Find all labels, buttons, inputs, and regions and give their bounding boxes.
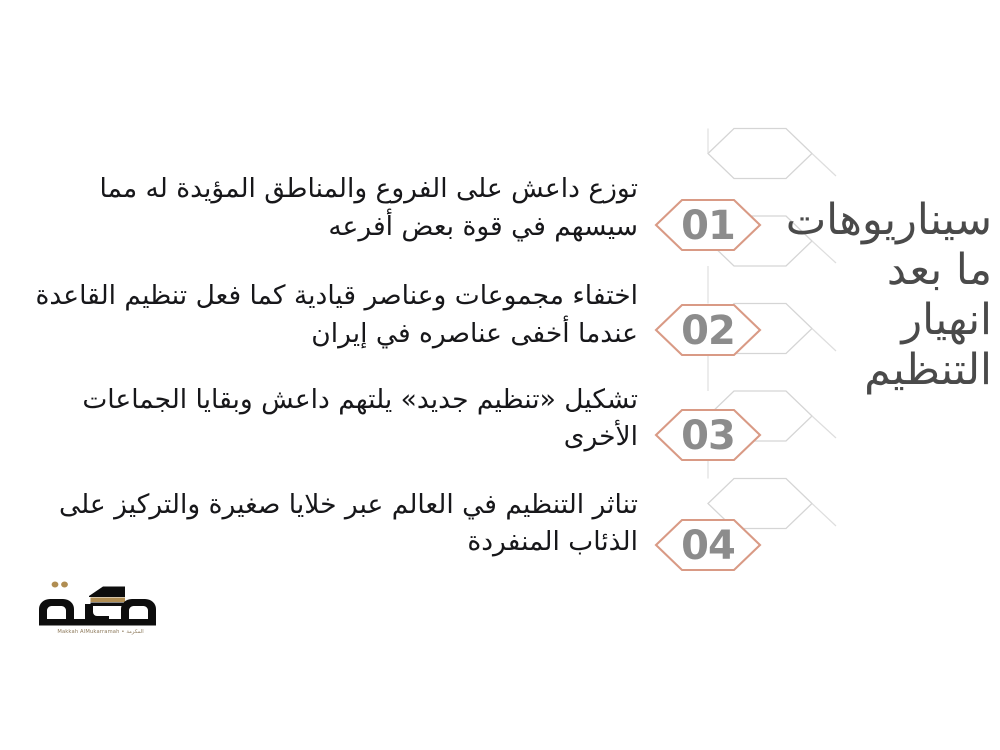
scenario-text-02: اختفاء مجموعات وعناصر قيادية كما فعل تنظ…	[14, 277, 638, 352]
connector-stub-0	[812, 154, 836, 177]
makkah-wordmark	[33, 578, 168, 628]
makkah-logo: Makkah AlMukarramah • المكرمة	[33, 578, 168, 640]
hexagon-number-03: 03	[681, 413, 735, 459]
infographic-canvas: 01 02 03 04 سيناريوهات ما بعد انهيار الت…	[0, 0, 1000, 750]
scenario-list: توزع داعش على الفروع والمناطق المؤيدة له…	[14, 170, 638, 561]
hexagon-03	[656, 410, 760, 460]
logo-arabic-letters	[39, 596, 156, 626]
logo-subtitle: Makkah AlMukarramah • المكرمة	[33, 629, 168, 635]
hexagon-04	[656, 520, 760, 570]
headline-block: سيناريوهات ما بعد انهيار التنظيم	[722, 196, 992, 396]
background-hexagon-3	[708, 391, 812, 441]
hexagon-number-04: 04	[681, 523, 735, 569]
headline-line-1: سيناريوهات	[722, 196, 992, 246]
background-hexagon-4	[708, 479, 812, 529]
scenario-text-04: تناثر التنظيم في العالم عبر خلايا صغيرة …	[14, 486, 638, 561]
connector-stub-4	[812, 504, 836, 527]
headline-line-3: انهيار	[722, 296, 992, 346]
headline-line-4: التنظيم	[722, 346, 992, 396]
scenario-text-01: توزع داعش على الفروع والمناطق المؤيدة له…	[14, 170, 638, 245]
connector-stub-3	[812, 416, 836, 438]
headline-line-2: ما بعد	[722, 246, 992, 296]
scenario-text-03: تشكيل «تنظيم جديد» يلتهم داعش وبقايا الج…	[14, 381, 638, 456]
background-hexagon-top	[708, 129, 812, 179]
logo-dots-icon	[52, 582, 68, 588]
